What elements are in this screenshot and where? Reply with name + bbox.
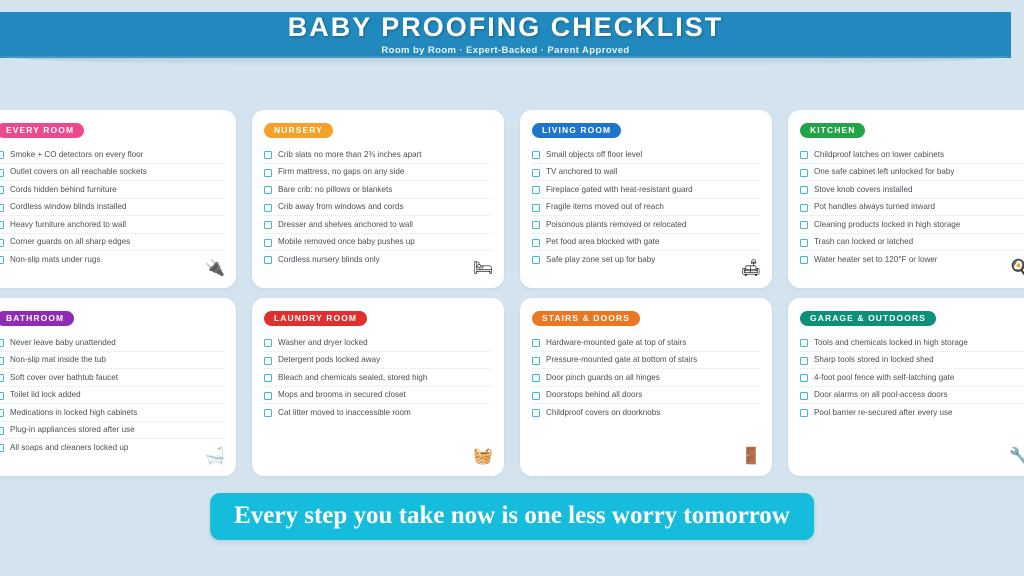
- checklist-item-label: Pool barrier re-secured after every use: [814, 408, 953, 417]
- checklist-item-label: Never leave baby unattended: [10, 338, 116, 347]
- checklist-item-label: Bare crib: no pillows or blankets: [278, 185, 392, 194]
- page-title: BABY PROOFING CHECKLIST: [288, 14, 724, 41]
- plug-icon: 🔌: [204, 258, 226, 280]
- checkbox-icon[interactable]: [264, 239, 272, 247]
- checklist-item-label: Washer and dryer locked: [278, 338, 368, 347]
- checklist-item[interactable]: Never leave baby unattended: [0, 334, 224, 352]
- checkbox-icon[interactable]: [0, 256, 4, 264]
- checklist-item[interactable]: Bare crib: no pillows or blankets: [264, 181, 492, 199]
- checklist-item[interactable]: Cords hidden behind furniture: [0, 181, 224, 199]
- checklist-item[interactable]: Water heater set to 120°F or lower: [800, 251, 1024, 268]
- checklist-item-label: Water heater set to 120°F or lower: [814, 255, 938, 264]
- checkbox-icon[interactable]: [0, 357, 4, 365]
- page-header: BABY PROOFING CHECKLIST Room by Room · E…: [0, 12, 1011, 58]
- checklist-card: BATHROOMNever leave baby unattendedNon-s…: [0, 298, 236, 476]
- checklist-item[interactable]: Doorstops behind all doors: [532, 387, 760, 405]
- checkbox-icon[interactable]: [532, 204, 540, 212]
- checklist-item-label: Non-slip mats under rugs: [10, 255, 100, 264]
- checklist-items: Crib slats no more than 2⅜ inches apartF…: [264, 146, 492, 268]
- checklist-items: Tools and chemicals locked in high stora…: [800, 334, 1024, 421]
- checklist-item[interactable]: Crib slats no more than 2⅜ inches apart: [264, 146, 492, 164]
- checklist-item[interactable]: Childproof covers on doorknobs: [532, 404, 760, 421]
- header-curve-shadow: [0, 56, 1011, 66]
- checklist-card: LIVING ROOMSmall objects off floor level…: [520, 110, 772, 288]
- checkbox-icon[interactable]: [800, 357, 808, 365]
- checklist-item-label: Small objects off floor level: [546, 150, 642, 159]
- door-icon: 🚪: [740, 446, 762, 468]
- checklist-items: Washer and dryer lockedDetergent pods lo…: [264, 334, 492, 421]
- checklist-item[interactable]: Pot handles always turned inward: [800, 199, 1024, 217]
- checklist-item-label: 4-foot pool fence with self-latching gat…: [814, 373, 954, 382]
- checklist-item[interactable]: Bleach and chemicals sealed, stored high: [264, 369, 492, 387]
- checklist-items: Never leave baby unattendedNon-slip mat …: [0, 334, 224, 456]
- card-category-pill: KITCHEN: [800, 123, 865, 139]
- checklist-item[interactable]: Small objects off floor level: [532, 146, 760, 164]
- checklist-item[interactable]: Dresser and shelves anchored to wall: [264, 216, 492, 234]
- checklist-item-label: Pet food area blocked with gate: [546, 237, 659, 246]
- checkbox-icon[interactable]: [532, 357, 540, 365]
- checklist-item-label: Soft cover over bathtub faucet: [10, 373, 118, 382]
- checklist-item-label: Childproof latches on lower cabinets: [814, 150, 944, 159]
- checklist-item[interactable]: Pool barrier re-secured after every use: [800, 404, 1024, 421]
- card-category-pill: LIVING ROOM: [532, 123, 621, 139]
- checkbox-icon[interactable]: [800, 221, 808, 229]
- checklist-items: Hardware-mounted gate at top of stairsPr…: [532, 334, 760, 421]
- checklist-item-label: Childproof covers on doorknobs: [546, 408, 660, 417]
- checklist-item[interactable]: Trash can locked or latched: [800, 234, 1024, 252]
- checkbox-icon[interactable]: [264, 204, 272, 212]
- checklist-item-label: Mops and brooms in secured closet: [278, 390, 406, 399]
- card-category-pill: GARAGE & OUTDOORS: [800, 311, 936, 327]
- card-category-pill: EVERY ROOM: [0, 123, 84, 139]
- checklist-item[interactable]: Smoke + CO detectors on every floor: [0, 146, 224, 164]
- checklist-item[interactable]: Toilet lid lock added: [0, 387, 224, 405]
- checklist-item-label: Crib slats no more than 2⅜ inches apart: [278, 150, 422, 159]
- page-subtitle: Room by Room · Expert-Backed · Parent Ap…: [381, 46, 629, 56]
- checklist-item-label: Cordless nursery blinds only: [278, 255, 380, 264]
- checkbox-icon[interactable]: [264, 186, 272, 194]
- checklist-item-label: Tools and chemicals locked in high stora…: [814, 338, 968, 347]
- checklist-item-label: Firm mattress, no gaps on any side: [278, 167, 404, 176]
- checkbox-icon[interactable]: [800, 169, 808, 177]
- header-content: BABY PROOFING CHECKLIST Room by Room · E…: [0, 12, 1011, 58]
- checkbox-icon[interactable]: [0, 151, 4, 159]
- bathtub-icon: 🛁: [204, 446, 226, 468]
- checkbox-icon[interactable]: [264, 357, 272, 365]
- checkbox-icon[interactable]: [264, 339, 272, 347]
- checklist-item-label: Dresser and shelves anchored to wall: [278, 220, 413, 229]
- checklist-item-label: Hardware-mounted gate at top of stairs: [546, 338, 686, 347]
- checklist-item[interactable]: 4-foot pool fence with self-latching gat…: [800, 369, 1024, 387]
- checklist-item-label: Door alarms on all pool-access doors: [814, 390, 948, 399]
- checkbox-icon[interactable]: [532, 409, 540, 417]
- checklist-item[interactable]: Pet food area blocked with gate: [532, 234, 760, 252]
- card-category-pill: STAIRS & DOORS: [532, 311, 640, 327]
- checkbox-icon[interactable]: [0, 427, 4, 435]
- checklist-item-label: Door pinch guards on all hinges: [546, 373, 660, 382]
- checklist-item-label: Sharp tools stored in locked shed: [814, 355, 934, 364]
- checklist-item-label: Heavy furniture anchored to wall: [10, 220, 126, 229]
- checklist-item[interactable]: Medications in locked high cabinets: [0, 404, 224, 422]
- checklist-item[interactable]: Outlet covers on all reachable sockets: [0, 164, 224, 182]
- checkbox-icon[interactable]: [0, 392, 4, 400]
- laundry-basket-icon: 🧺: [472, 446, 494, 468]
- checklist-item[interactable]: All soaps and cleaners locked up: [0, 439, 224, 456]
- checklist-item[interactable]: Non-slip mats under rugs: [0, 251, 224, 268]
- checklist-item-label: Crib away from windows and cords: [278, 202, 404, 211]
- checklist-item[interactable]: Firm mattress, no gaps on any side: [264, 164, 492, 182]
- checklist-item[interactable]: Fragile items moved out of reach: [532, 199, 760, 217]
- checklist-items: Smoke + CO detectors on every floorOutle…: [0, 146, 224, 268]
- checklist-item[interactable]: Tools and chemicals locked in high stora…: [800, 334, 1024, 352]
- checkbox-icon[interactable]: [800, 409, 808, 417]
- checklist-item-label: Mobile removed once baby pushes up: [278, 237, 415, 246]
- checklist-card: STAIRS & DOORSHardware-mounted gate at t…: [520, 298, 772, 476]
- checklist-item[interactable]: Poisonous plants removed or relocated: [532, 216, 760, 234]
- checklist-item-label: Fragile items moved out of reach: [546, 202, 664, 211]
- checkbox-icon[interactable]: [0, 374, 4, 382]
- checklist-item-label: Bleach and chemicals sealed, stored high: [278, 373, 427, 382]
- checklist-item[interactable]: Stove knob covers installed: [800, 181, 1024, 199]
- checklist-item-label: Poisonous plants removed or relocated: [546, 220, 686, 229]
- checklist-item-label: Cordless window blinds installed: [10, 202, 127, 211]
- sofa-icon: 🛋: [740, 258, 762, 280]
- checkbox-icon[interactable]: [264, 221, 272, 229]
- checklist-item-label: Doorstops behind all doors: [546, 390, 642, 399]
- checklist-item[interactable]: Pressure-mounted gate at bottom of stair…: [532, 352, 760, 370]
- checklist-card: KITCHENChildproof latches on lower cabin…: [788, 110, 1024, 288]
- checklist-item[interactable]: Door pinch guards on all hinges: [532, 369, 760, 387]
- checklist-card: LAUNDRY ROOMWasher and dryer lockedDeter…: [252, 298, 504, 476]
- card-category-pill: LAUNDRY ROOM: [264, 311, 367, 327]
- tools-icon: 🔧: [1008, 446, 1024, 468]
- checklist-item-label: Detergent pods locked away: [278, 355, 380, 364]
- pan-icon: 🍳: [1008, 258, 1024, 280]
- checklist-item[interactable]: One safe cabinet left unlocked for baby: [800, 164, 1024, 182]
- checklist-item-label: Plug-in appliances stored after use: [10, 425, 135, 434]
- checklist-item[interactable]: Cleaning products locked in high storage: [800, 216, 1024, 234]
- card-category-pill: BATHROOM: [0, 311, 74, 327]
- checkbox-icon[interactable]: [264, 256, 272, 264]
- checkbox-icon[interactable]: [800, 204, 808, 212]
- checkbox-icon[interactable]: [0, 239, 4, 247]
- checkbox-icon[interactable]: [264, 169, 272, 177]
- checklist-item-label: Safe play zone set up for baby: [546, 255, 655, 264]
- checkbox-icon[interactable]: [0, 204, 4, 212]
- checklist-item[interactable]: TV anchored to wall: [532, 164, 760, 182]
- checklist-item[interactable]: Cordless nursery blinds only: [264, 251, 492, 268]
- checkbox-icon[interactable]: [800, 339, 808, 347]
- checkbox-icon[interactable]: [532, 239, 540, 247]
- checklist-item[interactable]: Childproof latches on lower cabinets: [800, 146, 1024, 164]
- checkbox-icon[interactable]: [0, 339, 4, 347]
- checkbox-icon[interactable]: [0, 221, 4, 229]
- checklist-items: Small objects off floor levelTV anchored…: [532, 146, 760, 268]
- checklist-item[interactable]: Heavy furniture anchored to wall: [0, 216, 224, 234]
- checklist-item[interactable]: Door alarms on all pool-access doors: [800, 387, 1024, 405]
- checkbox-icon[interactable]: [532, 169, 540, 177]
- checkbox-icon[interactable]: [264, 409, 272, 417]
- checkbox-icon[interactable]: [0, 186, 4, 194]
- checklist-item[interactable]: Mobile removed once baby pushes up: [264, 234, 492, 252]
- checklist-item-label: Cat litter moved to inaccessible room: [278, 408, 411, 417]
- checklist-item[interactable]: Corner guards on all sharp edges: [0, 234, 224, 252]
- checklist-card: EVERY ROOMSmoke + CO detectors on every …: [0, 110, 236, 288]
- checklist-item-label: TV anchored to wall: [546, 167, 618, 176]
- checklist-item[interactable]: Cat litter moved to inaccessible room: [264, 404, 492, 421]
- checklist-item[interactable]: Non-slip mat inside the tub: [0, 352, 224, 370]
- checkbox-icon[interactable]: [264, 392, 272, 400]
- checkbox-icon[interactable]: [800, 151, 808, 159]
- checklist-item-label: Medications in locked high cabinets: [10, 408, 137, 417]
- checklist-grid: EVERY ROOMSmoke + CO detectors on every …: [0, 110, 1024, 476]
- checklist-card: NURSERYCrib slats no more than 2⅜ inches…: [252, 110, 504, 288]
- checkbox-icon[interactable]: [0, 444, 4, 452]
- checklist-item-label: Cleaning products locked in high storage: [814, 220, 960, 229]
- checklist-items: Childproof latches on lower cabinetsOne …: [800, 146, 1024, 268]
- checklist-card: GARAGE & OUTDOORSTools and chemicals loc…: [788, 298, 1024, 476]
- checklist-item-label: Cords hidden behind furniture: [10, 185, 117, 194]
- checklist-item-label: Fireplace gated with heat-resistant guar…: [546, 185, 693, 194]
- checklist-item[interactable]: Sharp tools stored in locked shed: [800, 352, 1024, 370]
- checkbox-icon[interactable]: [800, 256, 808, 264]
- checklist-item-label: Non-slip mat inside the tub: [10, 355, 106, 364]
- checkbox-icon[interactable]: [800, 374, 808, 382]
- checkbox-icon[interactable]: [800, 392, 808, 400]
- footer-banner: Every step you take now is one less worr…: [210, 493, 814, 540]
- checklist-item-label: Smoke + CO detectors on every floor: [10, 150, 143, 159]
- checklist-item-label: Toilet lid lock added: [10, 390, 81, 399]
- checklist-item-label: All soaps and cleaners locked up: [10, 443, 128, 452]
- checkbox-icon[interactable]: [532, 186, 540, 194]
- checkbox-icon[interactable]: [800, 186, 808, 194]
- checklist-item-label: Corner guards on all sharp edges: [10, 237, 130, 246]
- checklist-item[interactable]: Safe play zone set up for baby: [532, 251, 760, 268]
- checklist-item[interactable]: Mops and brooms in secured closet: [264, 387, 492, 405]
- checklist-item-label: Pot handles always turned inward: [814, 202, 935, 211]
- checklist-item[interactable]: Washer and dryer locked: [264, 334, 492, 352]
- footer-text: Every step you take now is one less worr…: [234, 503, 790, 528]
- crib-icon: 🛏: [472, 258, 494, 280]
- checklist-item[interactable]: Crib away from windows and cords: [264, 199, 492, 217]
- checklist-item-label: Trash can locked or latched: [814, 237, 913, 246]
- checkbox-icon[interactable]: [532, 256, 540, 264]
- checklist-item[interactable]: Fireplace gated with heat-resistant guar…: [532, 181, 760, 199]
- checklist-item[interactable]: Hardware-mounted gate at top of stairs: [532, 334, 760, 352]
- checkbox-icon[interactable]: [532, 374, 540, 382]
- checkbox-icon[interactable]: [0, 409, 4, 417]
- checklist-item[interactable]: Cordless window blinds installed: [0, 199, 224, 217]
- checkbox-icon[interactable]: [0, 169, 4, 177]
- checklist-item[interactable]: Detergent pods locked away: [264, 352, 492, 370]
- checkbox-icon[interactable]: [264, 151, 272, 159]
- checklist-item-label: Outlet covers on all reachable sockets: [10, 167, 147, 176]
- checklist-item-label: One safe cabinet left unlocked for baby: [814, 167, 954, 176]
- checkbox-icon[interactable]: [264, 374, 272, 382]
- checkbox-icon[interactable]: [532, 339, 540, 347]
- card-category-pill: NURSERY: [264, 123, 333, 139]
- checklist-item[interactable]: Soft cover over bathtub faucet: [0, 369, 224, 387]
- checklist-item-label: Pressure-mounted gate at bottom of stair…: [546, 355, 697, 364]
- checklist-item[interactable]: Plug-in appliances stored after use: [0, 422, 224, 440]
- checklist-item-label: Stove knob covers installed: [814, 185, 913, 194]
- checkbox-icon[interactable]: [532, 221, 540, 229]
- checkbox-icon[interactable]: [532, 392, 540, 400]
- checkbox-icon[interactable]: [800, 239, 808, 247]
- checkbox-icon[interactable]: [532, 151, 540, 159]
